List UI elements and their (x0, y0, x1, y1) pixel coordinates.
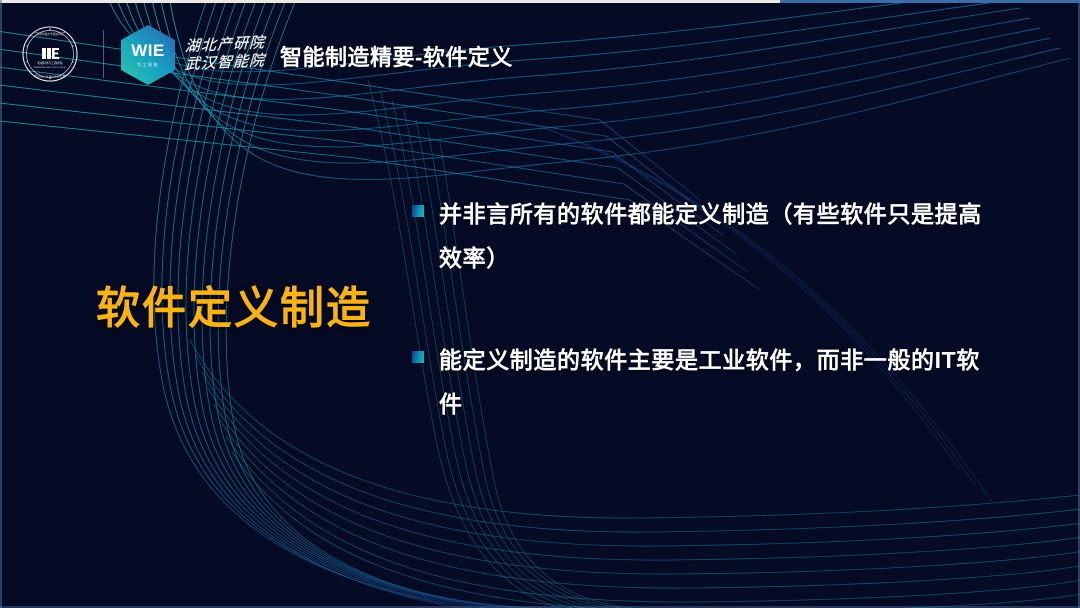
wie-hexagon-icon (117, 24, 179, 86)
bullet-square-icon (412, 205, 424, 217)
calligraphy-line-2: 武汉智能院 (184, 53, 273, 74)
logo-divider (103, 30, 104, 78)
bullet-square-icon (412, 351, 424, 363)
list-item: 并非言所有的软件都能定义制造（有些软件只是提高效率） (412, 192, 992, 280)
slide-header: 华中科技大学机械学院 SCHOOL OF MECHANICAL 机械科学与工程学… (0, 0, 1080, 108)
slide-title: 智能制造精要-软件定义 (280, 40, 513, 72)
svg-text:HUAZHONG UNIV. OF SCI. & TECH.: HUAZHONG UNIV. OF SCI. & TECH. (34, 66, 66, 69)
main-heading: 软件定义制造 (96, 272, 372, 336)
svg-text:SCHOOL OF MECHANICAL: SCHOOL OF MECHANICAL (34, 76, 67, 79)
wie-logo: WIE 华工智能 (117, 24, 179, 86)
presentation-slide: 华中科技大学机械学院 SCHOOL OF MECHANICAL 机械科学与工程学… (0, 0, 1080, 608)
institute-calligraphy: 湖北产研院 武汉智能院 (185, 26, 273, 82)
svg-text:机械科学与工程学院: 机械科学与工程学院 (37, 61, 62, 65)
bullet-list: 并非言所有的软件都能定义制造（有些软件只是提高效率） 能定义制造的软件主要是工业… (412, 192, 992, 485)
svg-text:华中科技大学机械学院: 华中科技大学机械学院 (37, 32, 63, 36)
calligraphy-line-1: 湖北产研院 (184, 34, 273, 55)
top-edge-strip-right (780, 0, 1080, 3)
bullet-text: 并非言所有的软件都能定义制造（有些软件只是提高效率） (439, 192, 992, 280)
university-seal-icon: 华中科技大学机械学院 SCHOOL OF MECHANICAL 机械科学与工程学… (22, 26, 78, 82)
slide-left-border (0, 0, 2, 608)
list-item: 能定义制造的软件主要是工业软件，而非一般的IT软件 (412, 338, 992, 426)
bullet-text: 能定义制造的软件主要是工业软件，而非一般的IT软件 (439, 338, 992, 426)
